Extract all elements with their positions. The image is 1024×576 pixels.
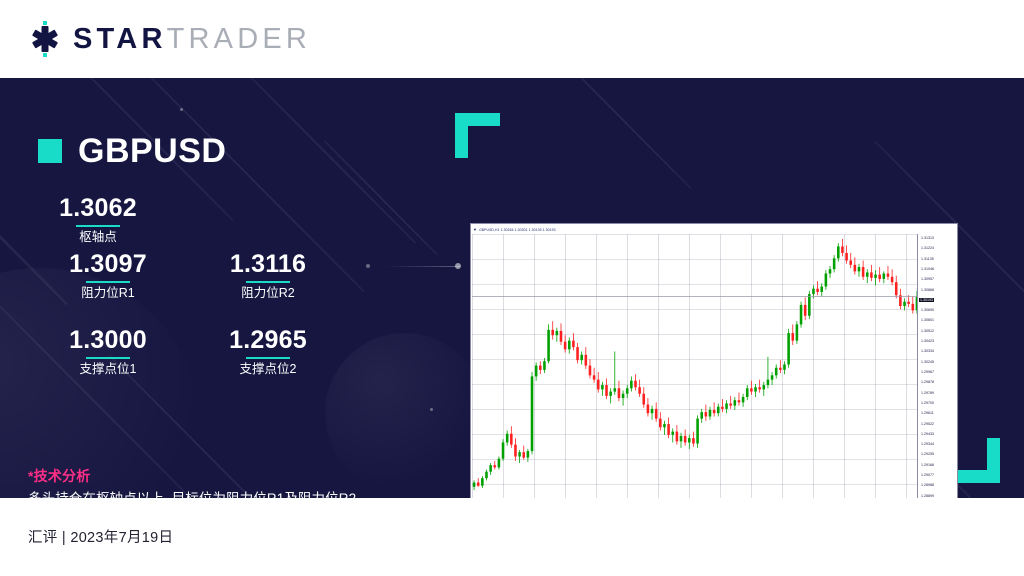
price-tick: 1.31224: [921, 246, 934, 250]
support-row: 1.3000 支撑点位1 1.2965 支撑点位2: [28, 326, 348, 377]
brand-name-light: TRADER: [167, 25, 311, 54]
price-tick: 1.29433: [921, 432, 934, 436]
price-tick: 1.29878: [921, 380, 934, 384]
brand-logo: STAR TRADER: [28, 21, 311, 57]
price-tick: 1.30690: [921, 308, 934, 312]
level-value: 1.3097: [28, 250, 188, 278]
price-tick: 1.30245: [921, 360, 934, 364]
chart-title: ▼ GBPUSD,H1 1.30264 1.30301 1.30139 1.30…: [473, 225, 673, 234]
level-s1: 1.3000 支撑点位1: [28, 326, 188, 377]
chart-title-text: GBPUSD,H1 1.30264 1.30301 1.30139 1.3019…: [479, 228, 556, 232]
page-header: STAR TRADER: [0, 0, 1024, 78]
level-divider: [246, 281, 290, 283]
price-axis[interactable]: 1.313131.312241.311351.310461.309571.308…: [917, 234, 957, 498]
pivot-divider: [76, 225, 120, 227]
level-label: 支撑点位1: [28, 362, 188, 377]
pair-marker-square: [38, 139, 62, 163]
decor-dot: [430, 408, 433, 411]
price-tick: 1.31313: [921, 236, 934, 240]
level-r1: 1.3097 阻力位R1: [28, 250, 188, 301]
level-s2: 1.2965 支撑点位2: [188, 326, 348, 377]
price-tick: 1.30423: [921, 339, 934, 343]
price-tick: 1.29967: [921, 370, 934, 374]
level-divider: [86, 281, 130, 283]
price-tick: 1.29255: [921, 452, 934, 456]
analysis-line: 多头持仓在枢轴点以上, 目标位为阻力位R1及阻力位R2。: [28, 488, 398, 498]
price-tick: 1.30957: [921, 277, 934, 281]
price-tick: 1.28988: [921, 483, 934, 487]
candlestick-series: [472, 234, 917, 498]
level-value: 1.2965: [188, 326, 348, 354]
chart-area: ▼ GBPUSD,H1 1.30264 1.30301 1.30139 1.30…: [455, 113, 1000, 483]
current-price-tag: 1.30193: [919, 298, 934, 302]
brand-name-bold: STAR: [73, 25, 167, 54]
price-tick: 1.31135: [921, 257, 934, 261]
analysis-body: 多头持仓在枢轴点以上, 目标位为阻力位R1及阻力位R2。 若低于枢轴点, 则可能…: [28, 488, 398, 498]
level-divider: [246, 357, 290, 359]
corner-bracket-top-left: [455, 113, 468, 158]
pivot-value: 1.3062: [38, 194, 158, 222]
price-tick: 1.30601: [921, 318, 934, 322]
chart-collapse-icon[interactable]: ▼: [473, 227, 477, 232]
analysis-title: *技术分析: [28, 466, 90, 486]
chart-plot[interactable]: [472, 234, 917, 498]
price-tick: 1.30512: [921, 329, 934, 333]
pair-heading: GBPUSD: [38, 134, 226, 168]
brand-wordmark: STAR TRADER: [73, 25, 311, 54]
page-footer: 汇评 | 2023年7月19日: [0, 498, 1024, 576]
left-column: GBPUSD 1.3062 枢轴点 1.3097 阻力位R1 1.3116 阻力…: [0, 78, 430, 498]
price-tick: 1.29789: [921, 391, 934, 395]
asterisk-star-icon: [28, 21, 62, 57]
footer-caption: 汇评 | 2023年7月19日: [28, 526, 173, 547]
price-tick: 1.30868: [921, 288, 934, 292]
pivot-label: 枢轴点: [38, 230, 158, 245]
price-tick: 1.29611: [921, 411, 934, 415]
price-tick: 1.30334: [921, 349, 934, 353]
level-divider: [86, 357, 130, 359]
price-tick: 1.29166: [921, 463, 934, 467]
price-tick: 1.31046: [921, 267, 934, 271]
level-label: 阻力位R1: [28, 286, 188, 301]
resistance-row: 1.3097 阻力位R1 1.3116 阻力位R2: [28, 250, 348, 301]
level-value: 1.3000: [28, 326, 188, 354]
corner-bracket-bottom-right: [987, 438, 1000, 483]
level-label: 阻力位R2: [188, 286, 348, 301]
pivot-stat: 1.3062 枢轴点: [38, 194, 158, 245]
page-title: GBPUSD: [78, 134, 226, 168]
level-value: 1.3116: [188, 250, 348, 278]
price-tick: 1.29700: [921, 401, 934, 405]
main-panel: GBPUSD 1.3062 枢轴点 1.3097 阻力位R1 1.3116 阻力…: [0, 78, 1024, 498]
levels-grid: 1.3097 阻力位R1 1.3116 阻力位R2 1.3000 支撑点位1: [28, 250, 348, 377]
price-tick: 1.29522: [921, 422, 934, 426]
level-label: 支撑点位2: [188, 362, 348, 377]
price-tick: 1.29077: [921, 473, 934, 477]
candlestick-chart-window[interactable]: ▼ GBPUSD,H1 1.30264 1.30301 1.30139 1.30…: [470, 223, 958, 498]
price-tick: 1.29344: [921, 442, 934, 446]
level-r2: 1.3116 阻力位R2: [188, 250, 348, 301]
